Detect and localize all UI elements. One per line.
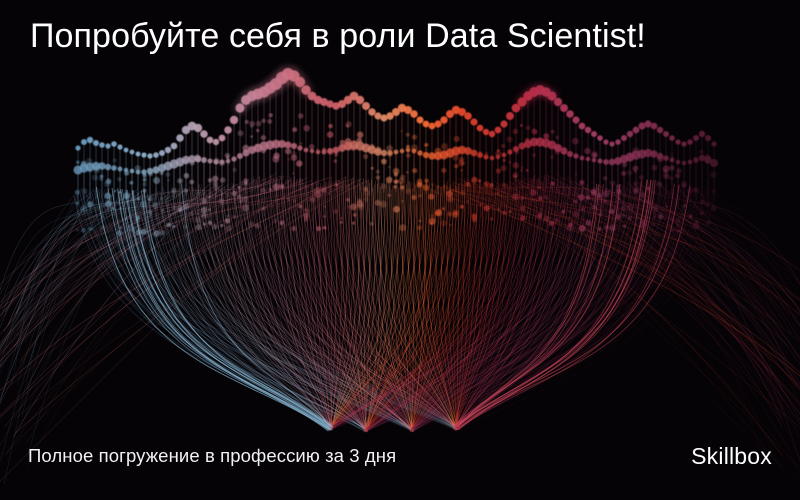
data-art-visualization — [0, 0, 800, 500]
skillbox-logo: Skillbox — [691, 443, 772, 469]
tagline-text: Полное погружение в профессию за 3 дня — [28, 444, 396, 468]
page-title: Попробуйте себя в роли Data Scientist! — [30, 16, 770, 56]
promo-banner: Попробуйте себя в роли Data Scientist! П… — [0, 0, 800, 500]
